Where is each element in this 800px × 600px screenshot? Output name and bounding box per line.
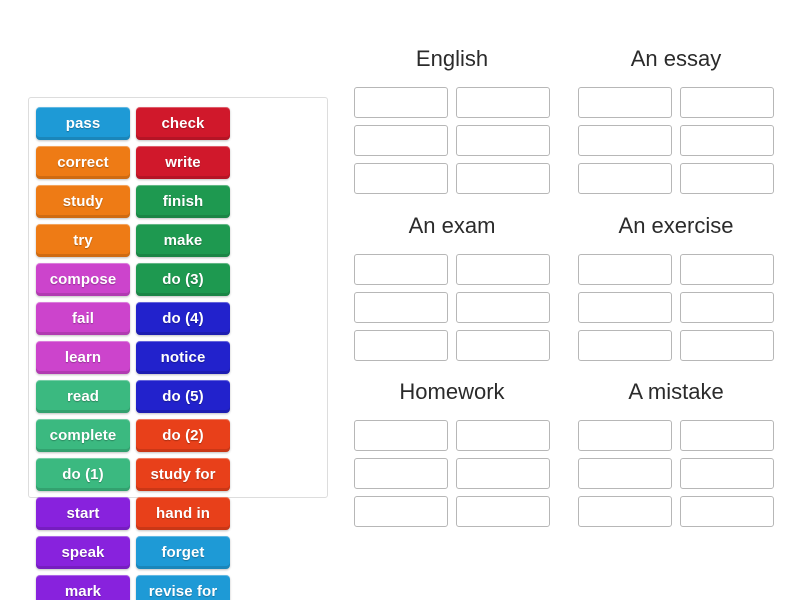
- word-tile[interactable]: pass: [36, 107, 130, 140]
- word-tile[interactable]: revise for: [136, 575, 230, 600]
- answer-group: An exercise: [576, 215, 776, 382]
- answer-slot-grid: [354, 87, 550, 194]
- answer-slot[interactable]: [456, 420, 550, 451]
- answer-slot[interactable]: [578, 163, 672, 194]
- answer-slot[interactable]: [680, 87, 774, 118]
- answer-slot[interactable]: [578, 125, 672, 156]
- answer-slot[interactable]: [680, 254, 774, 285]
- answer-slot-grid: [354, 254, 550, 361]
- answer-group-title: An exam: [409, 215, 496, 237]
- answer-slot[interactable]: [456, 292, 550, 323]
- answer-slot[interactable]: [680, 330, 774, 361]
- answer-group-title: Homework: [399, 381, 504, 403]
- answer-group: An essay: [576, 48, 776, 215]
- word-tile[interactable]: mark: [36, 575, 130, 600]
- word-tile[interactable]: do (4): [136, 302, 230, 335]
- answer-slot[interactable]: [354, 125, 448, 156]
- word-tile[interactable]: start: [36, 497, 130, 530]
- answer-slot[interactable]: [354, 330, 448, 361]
- word-tile[interactable]: write: [136, 146, 230, 179]
- answer-group-title: A mistake: [628, 381, 723, 403]
- word-tile[interactable]: check: [136, 107, 230, 140]
- answer-slot[interactable]: [354, 87, 448, 118]
- word-tile[interactable]: notice: [136, 341, 230, 374]
- answer-group: An exam: [352, 215, 552, 382]
- word-tile[interactable]: learn: [36, 341, 130, 374]
- word-tile[interactable]: do (1): [36, 458, 130, 491]
- word-tile[interactable]: study: [36, 185, 130, 218]
- answer-slot[interactable]: [354, 458, 448, 489]
- word-tile[interactable]: do (5): [136, 380, 230, 413]
- answer-group-title: English: [416, 48, 488, 70]
- answer-slot[interactable]: [578, 87, 672, 118]
- answer-slot[interactable]: [354, 254, 448, 285]
- answer-slot-grid: [578, 254, 774, 361]
- answer-slot[interactable]: [456, 87, 550, 118]
- word-tile[interactable]: correct: [36, 146, 130, 179]
- answer-slot[interactable]: [354, 496, 448, 527]
- answer-slot[interactable]: [578, 330, 672, 361]
- word-tile[interactable]: speak: [36, 536, 130, 569]
- word-bank-tile-grid: passcheckcorrectwritestudyfinishtrymakec…: [33, 104, 323, 600]
- answer-groups: EnglishAn essayAn examAn exerciseHomewor…: [352, 48, 776, 548]
- answer-slot[interactable]: [680, 163, 774, 194]
- answer-group: English: [352, 48, 552, 215]
- answer-slot[interactable]: [578, 292, 672, 323]
- word-tile[interactable]: compose: [36, 263, 130, 296]
- answer-slot[interactable]: [456, 163, 550, 194]
- word-tile[interactable]: finish: [136, 185, 230, 218]
- group-sort-activity: passcheckcorrectwritestudyfinishtrymakec…: [0, 0, 800, 600]
- answer-slot[interactable]: [456, 254, 550, 285]
- answer-slot[interactable]: [578, 458, 672, 489]
- answer-slot[interactable]: [456, 125, 550, 156]
- answer-slot[interactable]: [456, 458, 550, 489]
- word-tile[interactable]: complete: [36, 419, 130, 452]
- answer-slot[interactable]: [680, 458, 774, 489]
- answer-slot[interactable]: [456, 330, 550, 361]
- word-tile[interactable]: study for: [136, 458, 230, 491]
- answer-group-title: An essay: [631, 48, 722, 70]
- word-tile[interactable]: hand in: [136, 497, 230, 530]
- answer-slot[interactable]: [680, 420, 774, 451]
- answer-slot[interactable]: [578, 254, 672, 285]
- answer-slot-grid: [354, 420, 550, 527]
- word-tile[interactable]: make: [136, 224, 230, 257]
- answer-slot[interactable]: [578, 420, 672, 451]
- answer-slot[interactable]: [354, 292, 448, 323]
- answer-slot[interactable]: [680, 125, 774, 156]
- answer-slot[interactable]: [680, 496, 774, 527]
- word-tile[interactable]: do (3): [136, 263, 230, 296]
- answer-slot-grid: [578, 420, 774, 527]
- answer-group: Homework: [352, 381, 552, 548]
- answer-slot[interactable]: [680, 292, 774, 323]
- word-bank-panel: passcheckcorrectwritestudyfinishtrymakec…: [28, 97, 328, 498]
- answer-group-title: An exercise: [619, 215, 734, 237]
- word-tile[interactable]: read: [36, 380, 130, 413]
- word-tile[interactable]: do (2): [136, 419, 230, 452]
- answer-slot[interactable]: [354, 163, 448, 194]
- answer-group: A mistake: [576, 381, 776, 548]
- word-tile[interactable]: try: [36, 224, 130, 257]
- answer-slot-grid: [578, 87, 774, 194]
- word-tile[interactable]: fail: [36, 302, 130, 335]
- answer-slot[interactable]: [578, 496, 672, 527]
- answer-slot[interactable]: [456, 496, 550, 527]
- answer-slot[interactable]: [354, 420, 448, 451]
- word-tile[interactable]: forget: [136, 536, 230, 569]
